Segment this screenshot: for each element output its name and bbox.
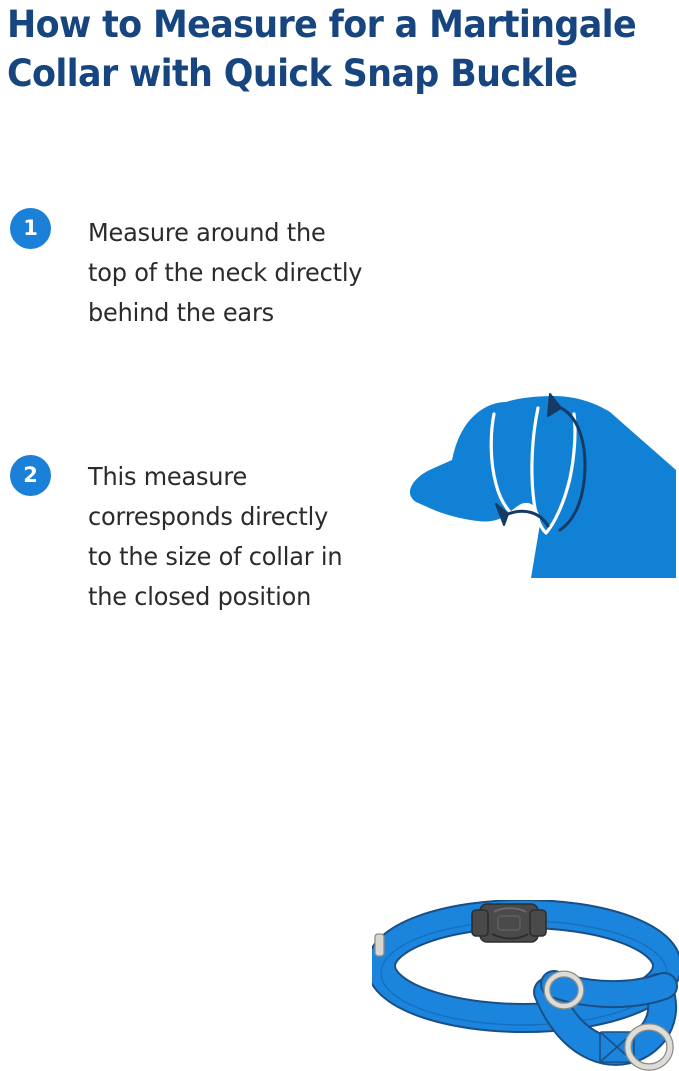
step-2: 2 This measure corresponds directly to t… bbox=[0, 448, 679, 623]
step-2-text-line-2: corresponds directly bbox=[88, 497, 386, 537]
step-1: 1 Measure around the top of the neck dir… bbox=[0, 200, 679, 400]
martingale-collar-illustration bbox=[372, 900, 679, 1071]
step-1-text-line-1: Measure around the bbox=[88, 213, 386, 253]
step-1-text: Measure around the top of the neck direc… bbox=[88, 213, 386, 333]
step-2-text-line-3: to the size of collar in bbox=[88, 537, 386, 577]
step-2-number-badge: 2 bbox=[10, 455, 51, 496]
quick-snap-buckle bbox=[472, 904, 546, 942]
step-2-text-line-4: the closed position bbox=[88, 577, 386, 617]
step-1-text-line-3: behind the ears bbox=[88, 293, 386, 333]
collar-left-slider bbox=[375, 934, 384, 956]
infographic-root: How to Measure for a Martingale Collar w… bbox=[0, 0, 679, 623]
page-title: How to Measure for a Martingale Collar w… bbox=[7, 0, 675, 98]
step-1-number-badge: 1 bbox=[10, 208, 51, 249]
page-title-line-1: How to Measure for a Martingale bbox=[7, 0, 638, 49]
step-1-text-line-2: top of the neck directly bbox=[88, 253, 386, 293]
step-2-text: This measure corresponds directly to the… bbox=[88, 457, 386, 617]
page-title-line-2: Collar with Quick Snap Buckle bbox=[7, 49, 638, 98]
step-2-text-line-1: This measure bbox=[88, 457, 386, 497]
